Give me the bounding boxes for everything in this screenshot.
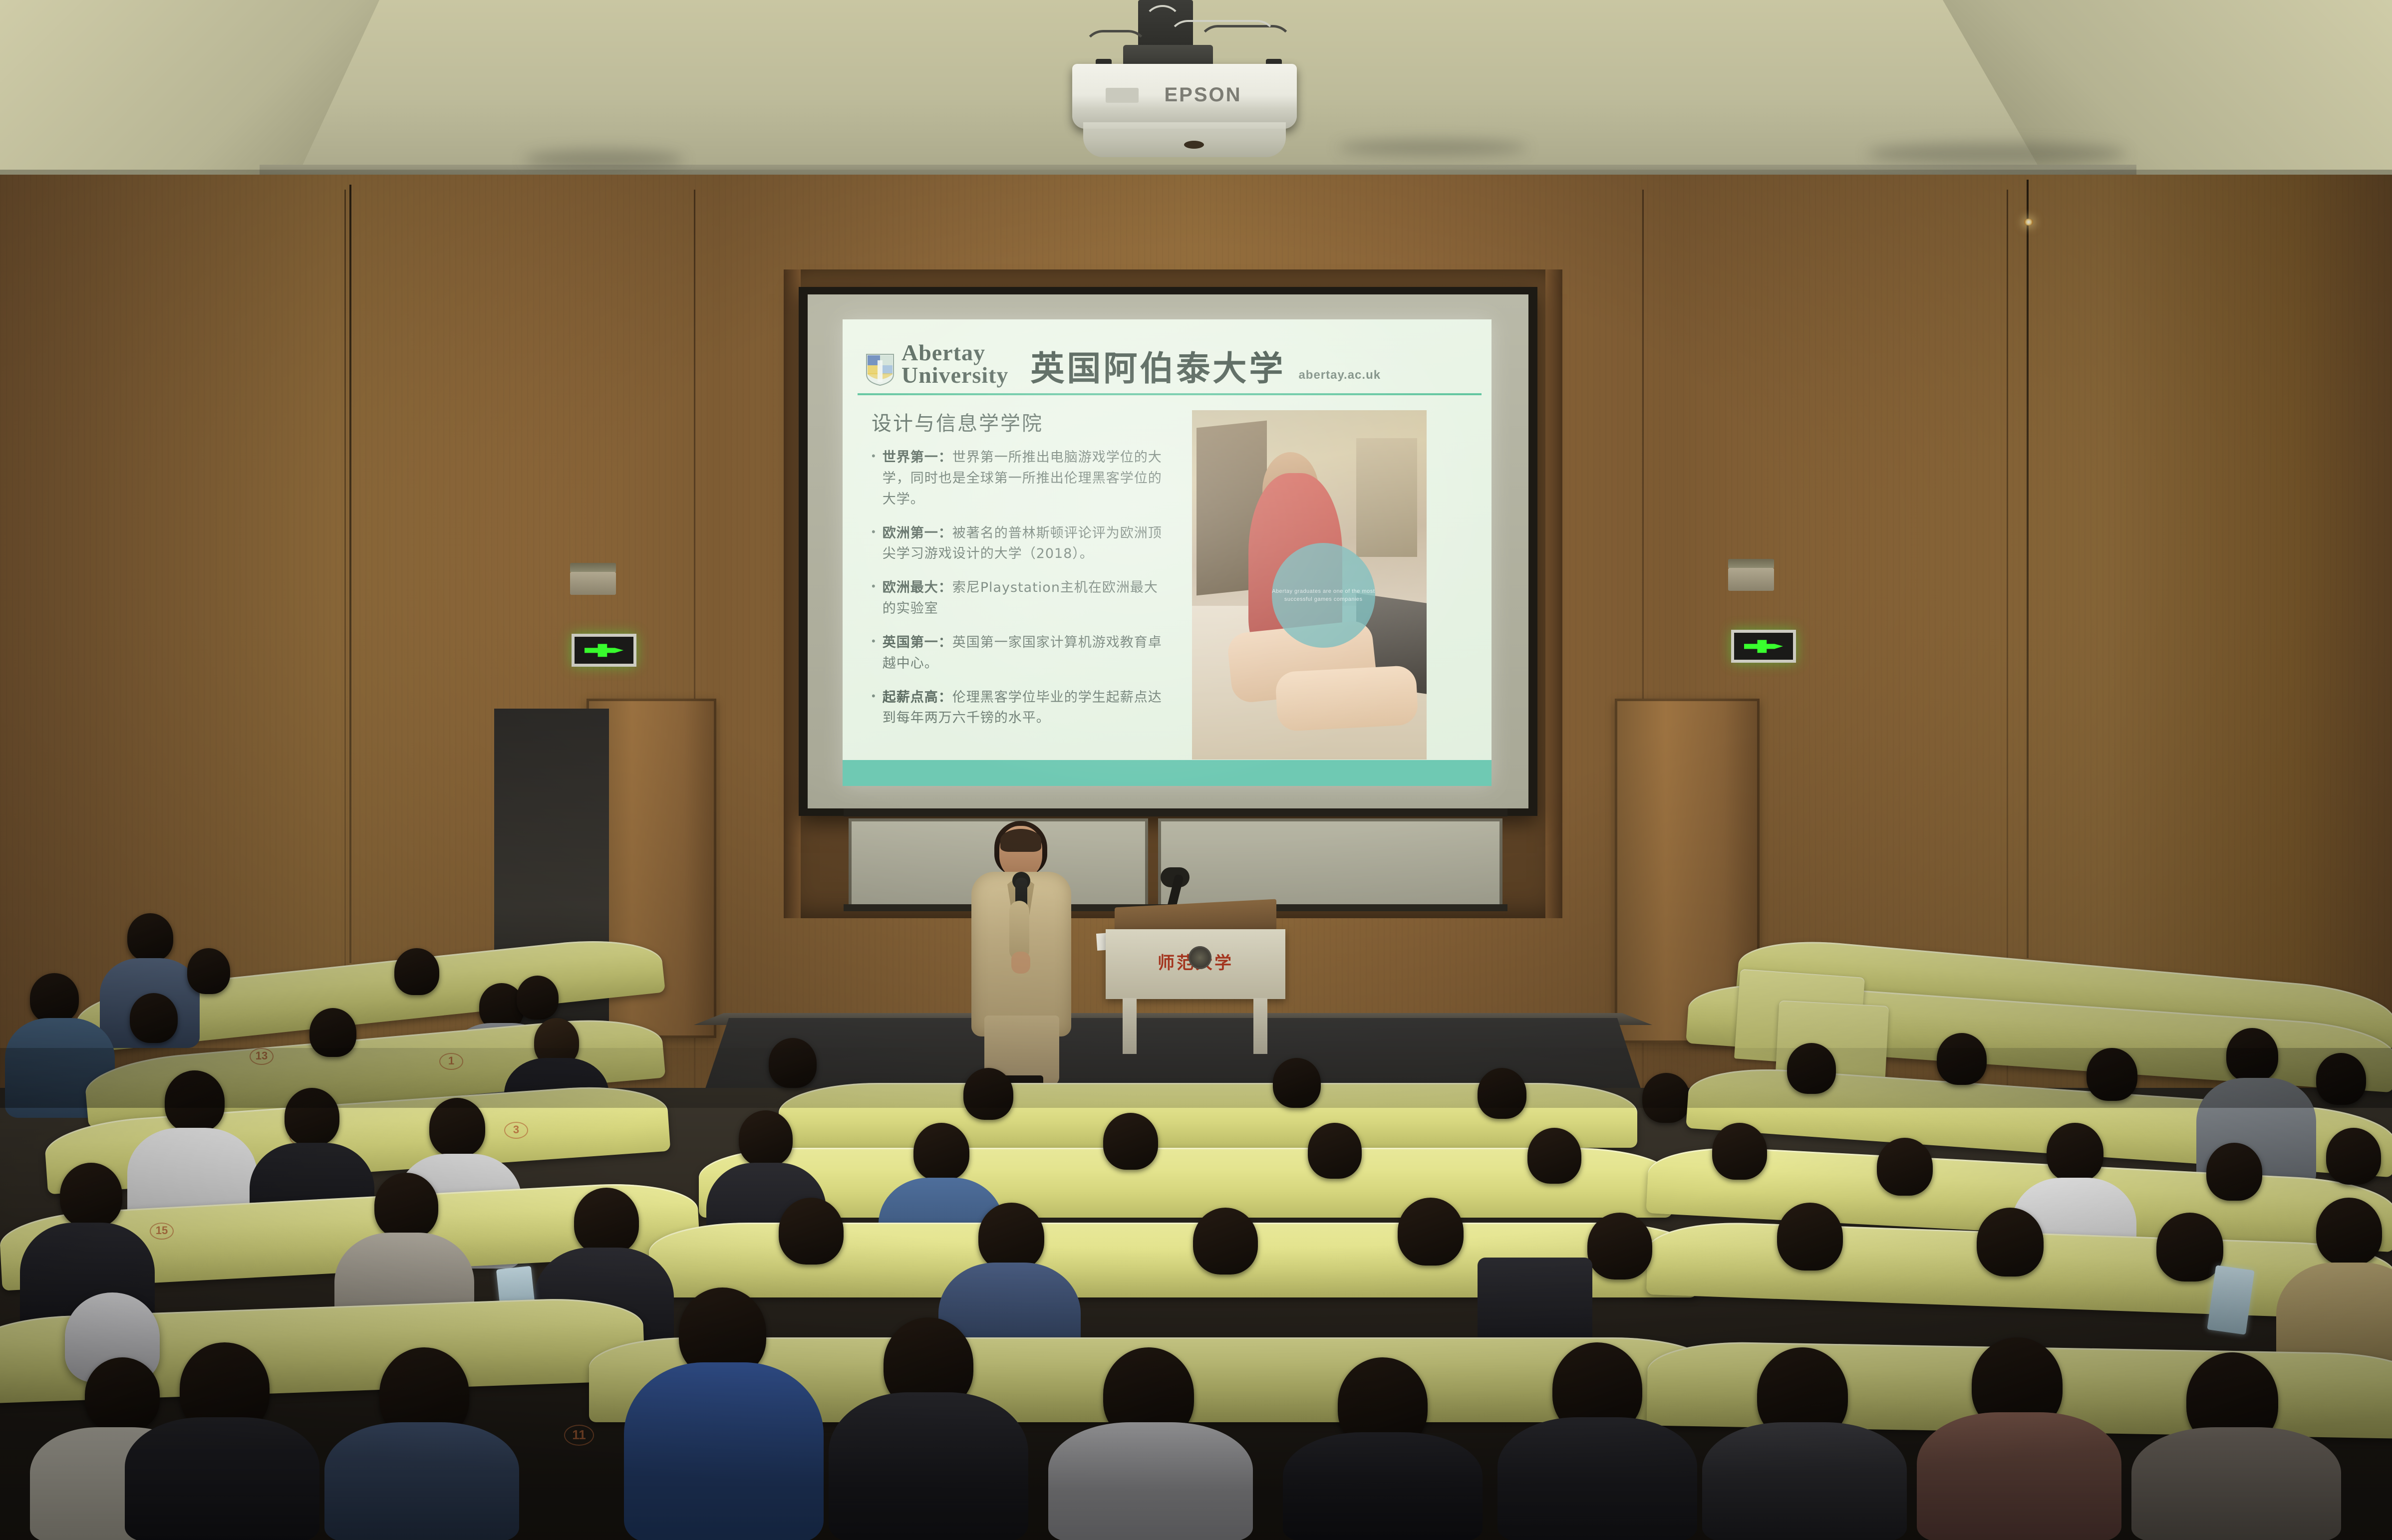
audience-head xyxy=(769,1038,817,1088)
audience-head xyxy=(2316,1198,2382,1266)
presenter-fringe xyxy=(1000,829,1041,852)
bullet-dot-icon: • xyxy=(872,577,876,619)
abertay-logo-line1: Abertay xyxy=(901,341,1008,364)
hanging-wire xyxy=(349,185,351,963)
audience-head xyxy=(2316,1053,2366,1105)
seat-number: 3 xyxy=(504,1122,528,1139)
exit-sign-left xyxy=(572,634,636,667)
running-person-exit-icon xyxy=(585,643,623,658)
bullet-text: 英国第一：英国第一家国家计算机游戏教育卓越中心。 xyxy=(883,632,1171,674)
slide-bullet-item: • 欧洲最大：索尼Playstation主机在欧洲最大的实验室 xyxy=(872,577,1171,619)
wall-fixture-top-left xyxy=(570,563,616,572)
audience-head xyxy=(2047,1123,2103,1182)
audience-head xyxy=(1712,1123,1767,1180)
projector-lower-body xyxy=(1083,122,1286,157)
slide-divider-rule xyxy=(858,393,1482,395)
presentation-slide: Abertay University 英国阿伯泰大学 abertay.ac.uk… xyxy=(843,319,1492,786)
audience-head xyxy=(1527,1128,1581,1184)
presenter xyxy=(963,826,1078,1085)
audience-head xyxy=(394,948,439,995)
audience-head xyxy=(779,1198,844,1265)
audience-head xyxy=(1587,1213,1652,1280)
seat-number: 15 xyxy=(150,1223,174,1240)
audience-head xyxy=(127,913,173,961)
screen-rail-top xyxy=(844,808,1507,816)
hanging-wire xyxy=(2027,180,2029,958)
audience-head xyxy=(2206,1143,2262,1201)
audience-head xyxy=(978,1203,1044,1271)
audience-head xyxy=(1398,1198,1464,1266)
audience-head xyxy=(1977,1208,2044,1277)
audience-head xyxy=(1103,1113,1158,1170)
bullet-text: 欧洲第一：被著名的普林斯顿评论评为欧洲顶尖学习游戏设计的大学（2018）。 xyxy=(883,523,1171,565)
ceiling-smudge xyxy=(524,150,684,170)
audience-body xyxy=(829,1392,1028,1540)
wall-seam xyxy=(2007,190,2008,1088)
lecture-hall-photo: EPSON Abertay University 英国阿伯泰大学 xyxy=(0,0,2392,1540)
bullet-dot-icon: • xyxy=(872,687,876,729)
projector-badge xyxy=(1106,88,1139,103)
slide-title-cn: 英国阿伯泰大学 xyxy=(1030,352,1285,386)
abertay-crest-icon xyxy=(866,353,895,386)
audience-body xyxy=(624,1362,824,1540)
slide-bullet-item: • 英国第一：英国第一家国家计算机游戏教育卓越中心。 xyxy=(872,632,1171,674)
audience-head xyxy=(309,1008,356,1057)
slide-section-heading: 设计与信息学学院 xyxy=(872,407,1043,436)
wall-fixture-right xyxy=(1728,568,1774,591)
abertay-logo-line2: University xyxy=(901,364,1008,386)
audience-head xyxy=(2326,1128,2381,1185)
audience-head xyxy=(1642,1073,1690,1123)
bullet-text: 起薪点高：伦理黑客学位毕业的学生起薪点达到每年两万六千镑的水平。 xyxy=(883,687,1171,729)
audience-body xyxy=(1283,1432,1483,1540)
audience-head xyxy=(739,1110,793,1166)
exit-sign-right xyxy=(1731,630,1796,663)
slide-url: abertay.ac.uk xyxy=(1298,368,1381,386)
slide-photo: Abertay graduates are one of the most su… xyxy=(1192,410,1427,760)
photo-arm-second xyxy=(1275,665,1419,732)
seat-number: 11 xyxy=(564,1425,594,1446)
audience-head xyxy=(374,1173,438,1239)
university-emblem-icon xyxy=(1189,946,1211,969)
wall-fixture-left xyxy=(570,572,616,595)
bullet-dot-icon: • xyxy=(872,523,876,565)
audience-head xyxy=(1777,1203,1843,1271)
seat-number: 13 xyxy=(250,1048,274,1065)
audience-head xyxy=(574,1188,639,1255)
audience-head xyxy=(1273,1058,1321,1108)
ceiling-smudge xyxy=(1867,143,2126,165)
slide-bullet-item: • 欧洲第一：被著名的普林斯顿评论评为欧洲顶尖学习游戏设计的大学（2018）。 xyxy=(872,523,1171,565)
audience-head xyxy=(1937,1033,1987,1085)
bay-edge-right xyxy=(1545,269,1562,918)
audience-body xyxy=(1917,1412,2121,1540)
bullet-text: 世界第一：世界第一所推出电脑游戏学位的大学，同时也是全球第一所推出伦理黑客学位的… xyxy=(883,447,1171,510)
projector-lens xyxy=(1184,141,1204,149)
seat-number: 1 xyxy=(439,1053,463,1070)
audience-head xyxy=(30,973,79,1023)
audience-head xyxy=(429,1098,485,1157)
audience-head xyxy=(1193,1208,1258,1275)
ceiling-smudge xyxy=(1338,140,1527,156)
audience-head xyxy=(130,993,178,1043)
slide-bullet-item: • 起薪点高：伦理黑客学位毕业的学生起薪点达到每年两万六千镑的水平。 xyxy=(872,687,1171,729)
audience-head xyxy=(913,1123,969,1181)
audience-body xyxy=(125,1417,319,1540)
presenter-hand xyxy=(1011,952,1030,974)
audience-head xyxy=(60,1163,122,1228)
audience-head xyxy=(517,976,559,1020)
wall-fixture-top-right xyxy=(1728,559,1774,568)
audience-head xyxy=(1787,1043,1836,1094)
bullet-text: 欧洲最大：索尼Playstation主机在欧洲最大的实验室 xyxy=(883,577,1171,619)
audience-head xyxy=(2156,1213,2223,1282)
audience-head xyxy=(1308,1123,1362,1179)
audience-head xyxy=(285,1088,339,1146)
audience-head xyxy=(1877,1138,1933,1196)
wall-seam xyxy=(344,190,346,1088)
lower-panel-right xyxy=(1158,818,1502,908)
lectern: 师范大学 xyxy=(1106,903,1285,1053)
audience-head xyxy=(2087,1048,2137,1101)
audience-body xyxy=(1048,1422,1253,1540)
slide-header: Abertay University 英国阿伯泰大学 abertay.ac.uk xyxy=(866,338,1477,386)
bay-edge-left xyxy=(784,269,801,918)
audience-head xyxy=(85,1357,160,1432)
audience-body xyxy=(1497,1417,1697,1540)
bullet-dot-icon: • xyxy=(872,447,876,510)
running-person-exit-icon xyxy=(1744,639,1783,654)
audience-head xyxy=(2226,1028,2278,1082)
bullet-dot-icon: • xyxy=(872,632,876,674)
lectern-leg-right xyxy=(1253,998,1267,1054)
projector-brand-label: EPSON xyxy=(1148,84,1258,106)
slide-bullet-item: • 世界第一：世界第一所推出电脑游戏学位的大学，同时也是全球第一所推出伦理黑客学… xyxy=(872,447,1171,510)
audience-head xyxy=(187,948,230,994)
slide-footer-bar xyxy=(843,760,1492,786)
audience-body xyxy=(1702,1422,1907,1540)
lectern-leg-left xyxy=(1123,998,1137,1054)
audience-head xyxy=(165,1070,225,1132)
audience-body xyxy=(2131,1427,2341,1540)
audience-head xyxy=(1478,1068,1526,1119)
wire-light-tip xyxy=(2024,219,2033,226)
photo-caption-text: Abertay graduates are one of the most su… xyxy=(1272,587,1375,604)
seat-row-center-2[interactable] xyxy=(699,1148,1672,1218)
photo-caption-circle: Abertay graduates are one of the most su… xyxy=(1272,543,1375,648)
photo-monitor-right xyxy=(1356,438,1417,557)
audience-head xyxy=(963,1068,1013,1120)
audience-body xyxy=(324,1422,519,1540)
slide-bullet-list: • 世界第一：世界第一所推出电脑游戏学位的大学，同时也是全球第一所推出伦理黑客学… xyxy=(872,447,1171,742)
